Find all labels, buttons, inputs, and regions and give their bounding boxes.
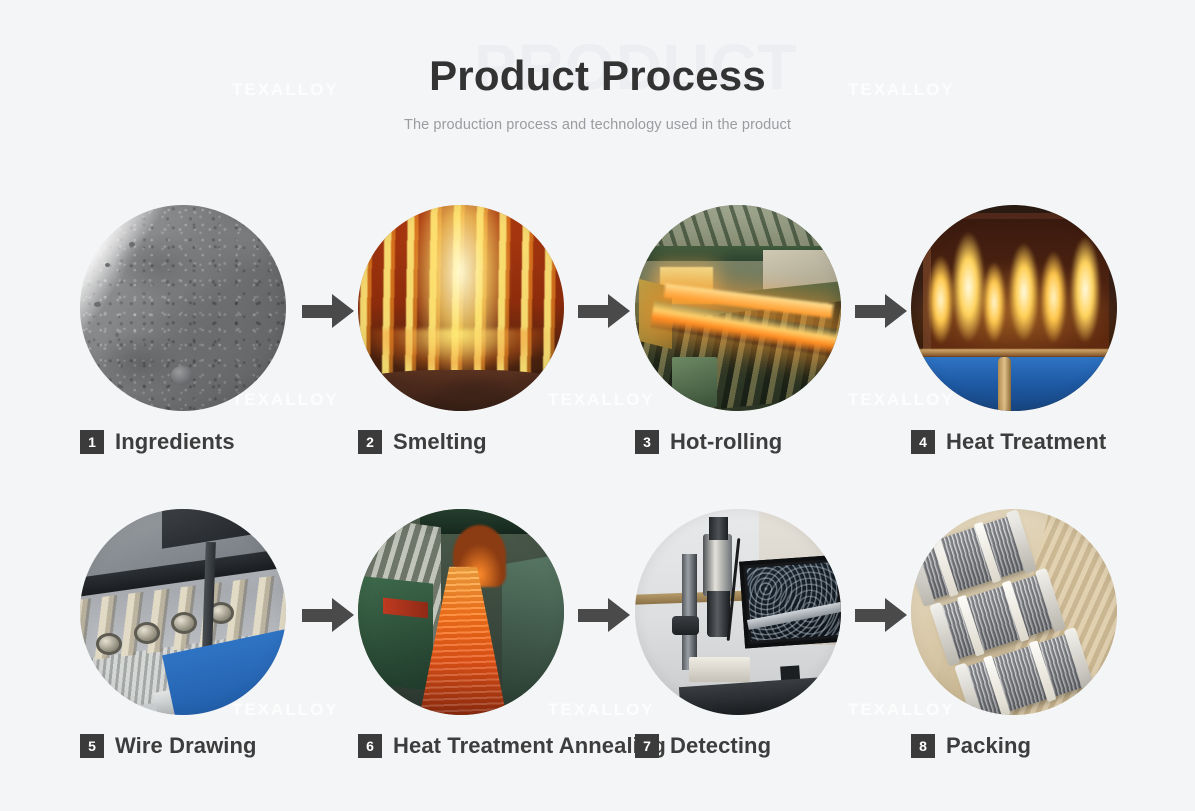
process-step-7[interactable]: 7 Detecting: [635, 509, 845, 759]
process-step-4[interactable]: 4 Heat Treatment: [911, 205, 1121, 455]
step-7-caption: 7 Detecting: [635, 733, 845, 759]
wire-drawing-machine-photo: [80, 509, 286, 715]
process-step-5[interactable]: 5 Wire Drawing: [80, 509, 290, 759]
metal-powder-photo: [80, 205, 286, 411]
step-3-label: Hot-rolling: [670, 429, 782, 455]
step-5-caption: 5 Wire Drawing: [80, 733, 290, 759]
step-3-number-badge: 3: [635, 430, 659, 454]
step-8-number-badge: 8: [911, 734, 935, 758]
arrow-right-icon: [302, 294, 354, 328]
step-3-caption: 3 Hot-rolling: [635, 429, 845, 455]
arrow-right-icon: [855, 598, 907, 632]
process-step-8[interactable]: 8 Packing: [911, 509, 1121, 759]
process-step-1[interactable]: 1 Ingredients: [80, 205, 290, 455]
step-2-label: Smelting: [393, 429, 487, 455]
step-4-label: Heat Treatment: [946, 429, 1106, 455]
process-row-1: 1 Ingredients 2 Smelting: [0, 196, 1195, 476]
step-4-number-badge: 4: [911, 430, 935, 454]
step-3-image-wrap: [635, 205, 841, 411]
step-7-image-wrap: [635, 509, 841, 715]
process-step-2[interactable]: 2 Smelting: [358, 205, 568, 455]
step-2-caption: 2 Smelting: [358, 429, 568, 455]
step-1-number-badge: 1: [80, 430, 104, 454]
step-1-label: Ingredients: [115, 429, 235, 455]
step-2-number-badge: 2: [358, 430, 382, 454]
microscope-inspection-photo: [635, 509, 841, 715]
process-step-6[interactable]: 6 Heat Treatment Annealing: [358, 509, 568, 759]
step-8-caption: 8 Packing: [911, 733, 1121, 759]
step-5-label: Wire Drawing: [115, 733, 257, 759]
step-7-number-badge: 7: [635, 734, 659, 758]
step-5-image-wrap: [80, 509, 286, 715]
annealing-line-photo: [358, 509, 564, 715]
step-6-number-badge: 6: [358, 734, 382, 758]
step-7-label: Detecting: [670, 733, 771, 759]
furnace-flames-photo: [911, 205, 1117, 411]
step-8-label: Packing: [946, 733, 1031, 759]
step-5-number-badge: 5: [80, 734, 104, 758]
arrow-right-icon: [578, 294, 630, 328]
step-1-caption: 1 Ingredients: [80, 429, 290, 455]
arrow-right-icon: [302, 598, 354, 632]
molten-metal-pour-photo: [358, 205, 564, 411]
step-6-caption: 6 Heat Treatment Annealing: [358, 733, 568, 759]
process-row-2: 5 Wire Drawing 6 Hea: [0, 500, 1195, 780]
page-title: Product Process: [0, 0, 1195, 100]
wire-spools-carton-photo: [911, 509, 1117, 715]
step-1-image-wrap: [80, 205, 286, 411]
page-header: Product Process The production process a…: [0, 0, 1195, 133]
process-step-3[interactable]: 3 Hot-rolling: [635, 205, 845, 455]
step-8-image-wrap: [911, 509, 1117, 715]
step-4-caption: 4 Heat Treatment: [911, 429, 1121, 455]
step-6-image-wrap: [358, 509, 564, 715]
arrow-right-icon: [855, 294, 907, 328]
page-subtitle: The production process and technology us…: [0, 100, 1195, 133]
step-4-image-wrap: [911, 205, 1117, 411]
step-2-image-wrap: [358, 205, 564, 411]
step-6-label: Heat Treatment Annealing: [393, 733, 666, 759]
arrow-right-icon: [578, 598, 630, 632]
rolling-mill-photo: [635, 205, 841, 411]
